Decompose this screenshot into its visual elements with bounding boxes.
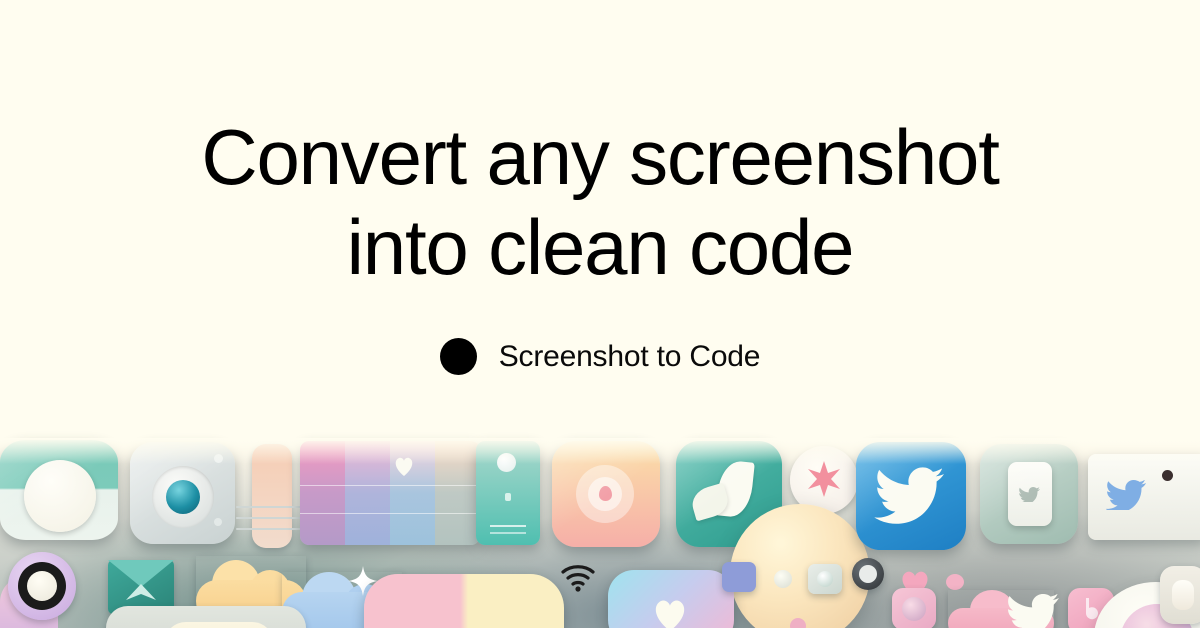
headline-line-1: Convert any screenshot xyxy=(201,113,998,201)
pink-app-dot xyxy=(902,597,926,621)
wifi-icon xyxy=(560,564,596,592)
illustration-strip xyxy=(0,438,1200,628)
small-bird-icon xyxy=(1019,487,1041,502)
mint-dot xyxy=(497,453,516,472)
lavender-ring-icon xyxy=(8,552,76,620)
pin-marker xyxy=(599,486,612,501)
black-circle-logo-icon xyxy=(440,338,477,375)
blue-square-icon xyxy=(722,562,756,592)
toggle-switch-icon xyxy=(0,440,118,540)
circle-core xyxy=(859,565,877,583)
dark-dot xyxy=(1162,470,1173,481)
light-gray-capsule xyxy=(106,606,306,628)
pin-ring-outer xyxy=(576,465,634,523)
divider-lines xyxy=(236,506,310,540)
promo-banner: Convert any screenshot into clean code S… xyxy=(0,0,1200,628)
twitter-bird-glyph xyxy=(874,466,948,526)
brand-row: Screenshot to Code xyxy=(440,338,761,375)
hero-text-block: Convert any screenshot into clean code S… xyxy=(0,0,1200,443)
mint-bar xyxy=(490,532,526,534)
right-small-inner xyxy=(1172,580,1194,610)
location-pin-icon xyxy=(552,441,660,547)
color-palette-grid-icon xyxy=(300,441,480,545)
pin-ring-inner xyxy=(588,477,622,511)
camera-lens xyxy=(166,480,200,514)
sage-card-icon xyxy=(980,444,1078,544)
gray-square-icon xyxy=(808,564,842,594)
camera-flash-dot xyxy=(214,454,223,463)
blue-bird-glyph xyxy=(1106,480,1148,510)
palette-column xyxy=(435,441,480,545)
pink-app-icon xyxy=(892,588,936,628)
dark-circle-icon xyxy=(852,558,884,590)
camera-icon xyxy=(130,442,235,544)
paper-plane-icon xyxy=(126,584,156,602)
brand-name: Screenshot to Code xyxy=(499,340,761,374)
gradient-heart-icon xyxy=(608,570,734,628)
mint-bar xyxy=(490,525,526,527)
page-title: Convert any screenshot into clean code xyxy=(201,112,998,292)
square-dot xyxy=(817,571,833,587)
ring-dark xyxy=(18,562,66,610)
palette-column xyxy=(345,441,390,545)
twitter-bird-icon xyxy=(856,442,966,550)
mint-panel-icon xyxy=(476,441,540,545)
pink-cream-split-icon xyxy=(364,574,564,628)
toggle-knob xyxy=(24,460,96,532)
bead-icon xyxy=(946,574,964,590)
right-small-icon xyxy=(1160,566,1200,624)
headline-line-2: into clean code xyxy=(201,202,998,292)
white-bird-icon xyxy=(1006,594,1062,628)
starburst-glyph xyxy=(804,459,844,499)
heart-icon xyxy=(392,455,416,477)
mint-small-dot xyxy=(505,493,511,501)
bead-icon xyxy=(790,618,806,628)
envelope-flap xyxy=(108,560,174,587)
heart-icon xyxy=(650,596,690,628)
bead-icon xyxy=(774,570,792,588)
white-card-bird-icon xyxy=(1088,454,1200,540)
palette-column xyxy=(300,441,345,545)
camera-ring xyxy=(152,466,214,528)
camera-sensor-dot xyxy=(214,518,222,526)
capsule-inner xyxy=(164,622,274,628)
white-card xyxy=(1008,462,1052,526)
ring-core xyxy=(27,571,57,601)
